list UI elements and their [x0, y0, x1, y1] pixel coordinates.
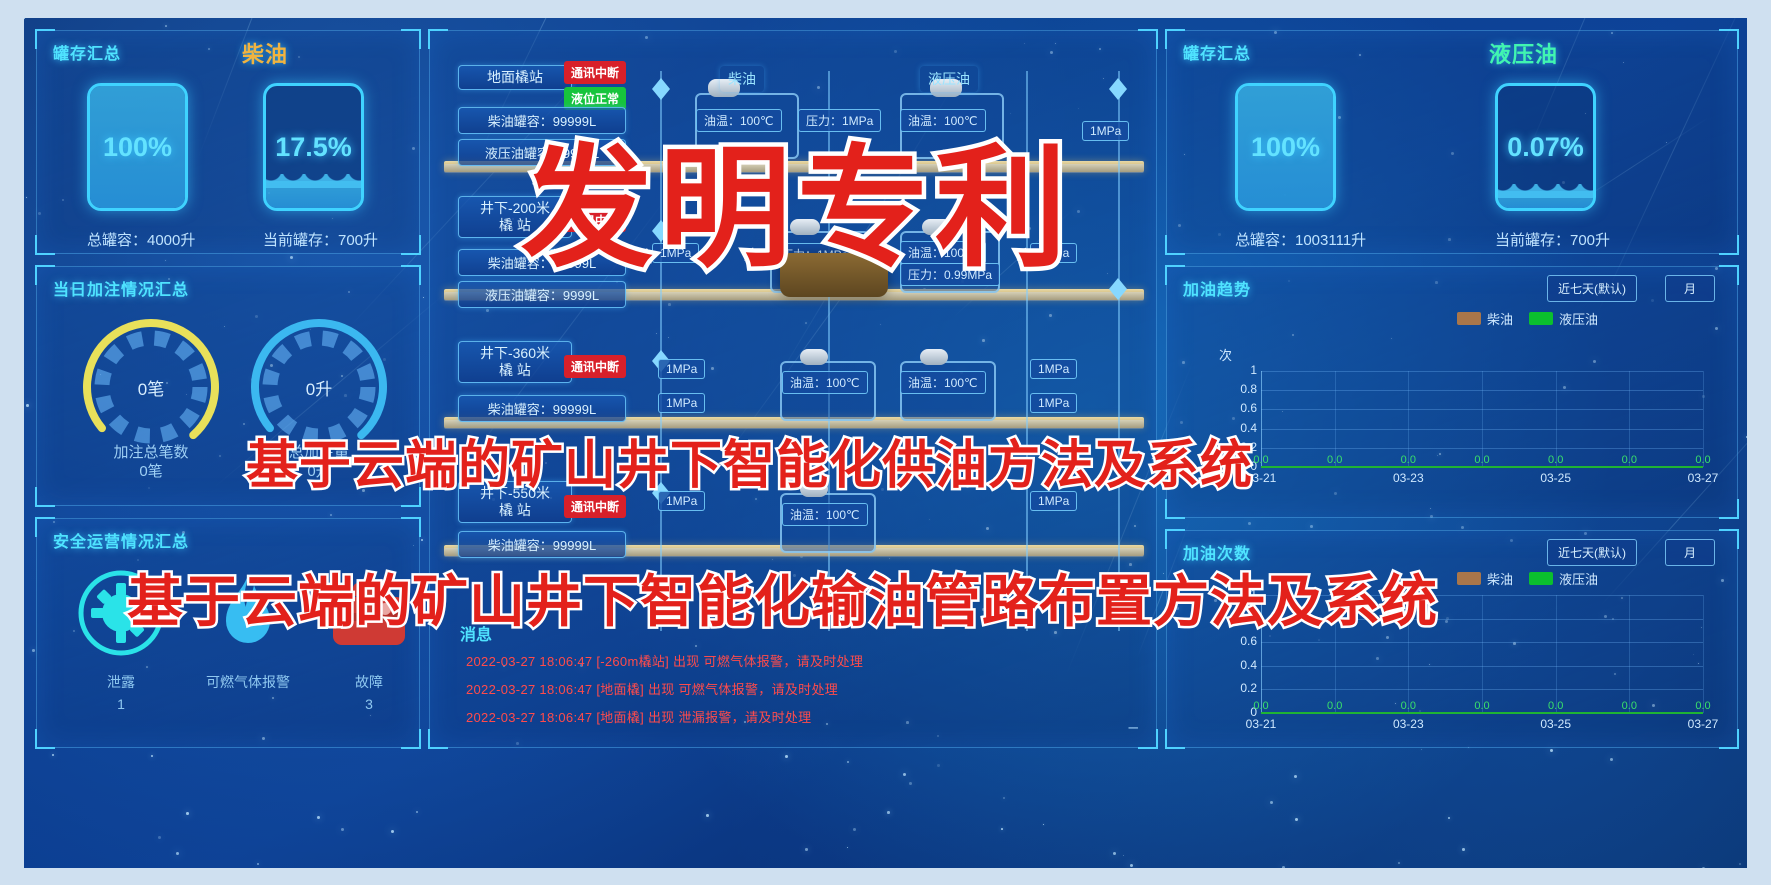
- station-tank-2-0: 柴油罐容：99999L: [458, 395, 626, 422]
- tank-percent: 100%: [1238, 132, 1333, 163]
- watermark-line2: 基于云端的矿山井下智能化输油管路布置方法及系统: [127, 557, 1438, 638]
- refuel-count-gauge: 0笔: [81, 317, 221, 457]
- corner-decor: [1165, 529, 1185, 549]
- legend-label: 液压油: [1559, 309, 1598, 328]
- chart-series-line: [1261, 466, 1703, 468]
- legend-item-hydraulic: 液压油: [1529, 569, 1598, 588]
- chart-gridline-vertical: [1482, 371, 1483, 467]
- station-badge-0-0: 通讯中断: [564, 61, 626, 84]
- corner-decor: [35, 517, 55, 537]
- left-total-tank: 100% 总罐容：4000升: [87, 83, 195, 250]
- legend-item-diesel: 柴油: [1457, 569, 1513, 588]
- corner-decor: [428, 729, 448, 749]
- tank-wave: [263, 174, 364, 188]
- chart-x-tick: 03-21: [1235, 717, 1287, 731]
- chart-point-label: 0.0: [1320, 454, 1350, 466]
- chart-y-tick: 1: [1223, 363, 1257, 377]
- corner-decor: [1719, 499, 1739, 519]
- tank-percent: 100%: [90, 132, 185, 163]
- left-tank-panel-title: 罐存汇总: [53, 40, 121, 64]
- trend-range-month-button[interactable]: 月: [1665, 275, 1715, 302]
- tank-current-stock: 当前罐存：700升: [263, 229, 378, 250]
- minimize-icon[interactable]: –: [1129, 717, 1138, 737]
- legend-label: 柴油: [1487, 309, 1513, 328]
- safety-item-label: 泄露: [65, 672, 177, 692]
- station-name-2[interactable]: 井下-360米 橇 站: [458, 341, 572, 383]
- chart-gridline-vertical: [1335, 371, 1336, 467]
- corner-decor: [35, 487, 55, 507]
- tank-graphic: 100%: [87, 83, 188, 211]
- legend-label: 液压油: [1559, 569, 1598, 588]
- watermark-headline: 发明专利: [521, 102, 1073, 293]
- corner-decor: [401, 517, 421, 537]
- legend-swatch-icon: [1529, 572, 1553, 585]
- chart-x-tick: 03-23: [1382, 471, 1434, 485]
- pressure-tag: 1MPa: [1082, 121, 1129, 141]
- corner-decor: [1165, 235, 1185, 255]
- chart-point-label: 0.0: [1393, 700, 1423, 712]
- message-row: 2022-03-27 18:06:47 [地面橇] 出现 可燃气体报警，请及时处…: [466, 679, 838, 698]
- count-range-week-button[interactable]: 近七天(默认): [1547, 539, 1637, 566]
- refuel-count-caption: 加注总笔数 0笔: [81, 443, 221, 481]
- legend-swatch-icon: [1457, 572, 1481, 585]
- trend-chart-legend: 柴油 液压油: [1457, 309, 1598, 328]
- left-refuel-panel-title: 当日加注情况汇总: [53, 276, 189, 300]
- chart-gridline-vertical: [1408, 371, 1409, 467]
- chart-point-label: 0.0: [1614, 700, 1644, 712]
- trend-chart-title: 加油趋势: [1183, 276, 1251, 300]
- refuel-volume-value: 0升: [249, 375, 389, 400]
- chart-gridline-vertical: [1703, 595, 1704, 713]
- corner-decor: [1719, 235, 1739, 255]
- watermark-line1: 基于云端的矿山井下智能化供油方法及系统: [246, 423, 1253, 498]
- right-tank-panel-title: 罐存汇总: [1183, 40, 1251, 64]
- left-safety-panel-title: 安全运营情况汇总: [53, 528, 189, 552]
- screenshot-root: 罐存汇总 柴油 100% 总罐容：4000升 17.5% 当前罐存：700升: [0, 0, 1771, 885]
- riser-line-far: [1118, 71, 1120, 631]
- dashboard: 罐存汇总 柴油 100% 总罐容：4000升 17.5% 当前罐存：700升: [24, 18, 1747, 868]
- corner-decor: [401, 265, 421, 285]
- chart-x-tick: 03-25: [1530, 717, 1582, 731]
- vessel-cap: [920, 349, 948, 365]
- chart-gridline-vertical: [1261, 371, 1262, 467]
- vessel-label-hydraulic: 液压油: [920, 66, 978, 92]
- chart-gridline-vertical: [1556, 371, 1557, 467]
- station-name-3-line2: 橇 站: [467, 502, 563, 519]
- corner-decor: [401, 235, 421, 255]
- station-tank-3-0: 柴油罐容：99999L: [458, 531, 626, 558]
- right-current-tank: 0.07% 当前罐存：700升: [1495, 83, 1610, 250]
- station-name-2-line2: 橇 站: [467, 362, 563, 379]
- corner-decor: [1165, 265, 1185, 285]
- refuel-count-caption-line1: 加注总笔数: [81, 443, 221, 462]
- legend-swatch-icon: [1529, 312, 1553, 325]
- message-row: 2022-03-27 18:06:47 [-260m橇站] 出现 可燃气体报警，…: [466, 651, 863, 670]
- chart-point-label: 0.0: [1541, 700, 1571, 712]
- right-tank-product-label: 液压油: [1489, 37, 1558, 69]
- legend-item-diesel: 柴油: [1457, 309, 1513, 328]
- tank-total-capacity: 总罐容：4000升: [87, 229, 195, 250]
- left-tank-panel: 罐存汇总 柴油 100% 总罐容：4000升 17.5% 当前罐存：700升: [36, 30, 420, 254]
- left-current-tank: 17.5% 当前罐存：700升: [263, 83, 378, 250]
- corner-decor: [401, 29, 421, 49]
- right-total-tank: 100% 总罐容：1003111升: [1235, 83, 1366, 250]
- tank-wave: [1495, 184, 1596, 198]
- corner-decor: [1165, 729, 1185, 749]
- chart-y-tick: 0.6: [1223, 401, 1257, 415]
- chart-gridline-vertical: [1556, 595, 1557, 713]
- tank-fill: [1498, 191, 1593, 208]
- chart-point-label: 0.0: [1614, 454, 1644, 466]
- chart-point-label: 0.0: [1541, 454, 1571, 466]
- corner-decor: [1138, 29, 1158, 49]
- vessel-temp-tag: 油温：100℃: [900, 371, 986, 394]
- legend-item-hydraulic: 液压油: [1529, 309, 1598, 328]
- pressure-tag: 1MPa: [1030, 359, 1077, 379]
- count-range-month-button[interactable]: 月: [1665, 539, 1715, 566]
- chart-point-label: 0.0: [1467, 700, 1497, 712]
- trend-plot-area: 00.20.40.60.810.00.00.00.00.00.00.003-21…: [1223, 367, 1709, 487]
- safety-item-count: 3: [319, 696, 419, 712]
- corner-decor: [35, 235, 55, 255]
- vessel-label-diesel: 柴油: [720, 66, 764, 92]
- safety-item-label: 故障: [319, 672, 419, 692]
- tank-current-stock: 当前罐存：700升: [1495, 229, 1610, 250]
- corner-decor: [1165, 29, 1185, 49]
- safety-item-count: 1: [65, 696, 177, 712]
- station-badge-3-0: 通讯中断: [564, 495, 626, 518]
- refuel-count-caption-line2: 0笔: [81, 462, 221, 481]
- count-chart-legend: 柴油 液压油: [1457, 569, 1598, 588]
- vessel-temp-tag: 油温：100℃: [782, 371, 868, 394]
- chart-point-label: 0.0: [1393, 454, 1423, 466]
- legend-swatch-icon: [1457, 312, 1481, 325]
- chart-x-tick: 03-27: [1677, 471, 1729, 485]
- right-tank-panel: 罐存汇总 液压油 100% 总罐容：1003111升 0.07% 当前罐存：70…: [1166, 30, 1738, 254]
- chart-y-tick: 0.4: [1223, 658, 1257, 672]
- corner-decor: [35, 265, 55, 285]
- trend-range-week-button[interactable]: 近七天(默认): [1547, 275, 1637, 302]
- chart-point-label: 0.0: [1688, 454, 1718, 466]
- message-row: 2022-03-27 18:06:47 [地面橇] 出现 泄漏报警，请及时处理: [466, 707, 811, 726]
- corner-decor: [1719, 529, 1739, 549]
- corner-decor: [1719, 265, 1739, 285]
- chart-gridline-vertical: [1629, 371, 1630, 467]
- chart-point-label: 0.0: [1688, 700, 1718, 712]
- tank-percent: 0.07%: [1498, 132, 1593, 163]
- vessel-temp-tag: 油温：100℃: [782, 503, 868, 526]
- corner-decor: [401, 729, 421, 749]
- station-name-2-line1: 井下-360米: [467, 345, 563, 362]
- trend-y-axis-unit: 次: [1219, 345, 1232, 364]
- station-badge-2-0: 通讯中断: [564, 355, 626, 378]
- chart-gridline-vertical: [1482, 595, 1483, 713]
- chart-y-tick: 0.8: [1223, 382, 1257, 396]
- chart-point-label: 0.0: [1246, 700, 1276, 712]
- legend-label: 柴油: [1487, 569, 1513, 588]
- chart-point-label: 0.0: [1467, 454, 1497, 466]
- refuel-count-value: 0笔: [81, 375, 221, 400]
- corner-decor: [1719, 29, 1739, 49]
- corner-decor: [1719, 729, 1739, 749]
- chart-gridline-vertical: [1703, 371, 1704, 467]
- station-name-0[interactable]: 地面橇站: [458, 65, 572, 90]
- chart-point-label: 0.0: [1320, 700, 1350, 712]
- chart-x-tick: 03-25: [1530, 471, 1582, 485]
- chart-x-tick: 03-27: [1677, 717, 1729, 731]
- chart-gridline-vertical: [1629, 595, 1630, 713]
- corner-decor: [428, 29, 448, 49]
- tank-total-capacity: 总罐容：1003111升: [1235, 229, 1366, 250]
- corner-decor: [1165, 499, 1185, 519]
- pressure-tag: 1MPa: [658, 359, 705, 379]
- chart-x-tick: 03-23: [1382, 717, 1434, 731]
- left-tank-product-label: 柴油: [242, 37, 288, 69]
- pressure-tag: 1MPa: [1030, 393, 1077, 413]
- tank-graphic: 0.07%: [1495, 83, 1596, 211]
- tank-graphic: 17.5%: [263, 83, 364, 211]
- corner-decor: [35, 729, 55, 749]
- corner-decor: [1138, 729, 1158, 749]
- chart-y-tick: 0.2: [1223, 681, 1257, 695]
- tank-graphic: 100%: [1235, 83, 1336, 211]
- safety-item-label: 可燃气体报警: [183, 672, 313, 692]
- tank-fill: [266, 181, 361, 208]
- corner-decor: [35, 29, 55, 49]
- pressure-tag: 1MPa: [658, 393, 705, 413]
- vessel-cap: [800, 349, 828, 365]
- tank-percent: 17.5%: [266, 132, 361, 163]
- chart-series-line: [1261, 712, 1703, 714]
